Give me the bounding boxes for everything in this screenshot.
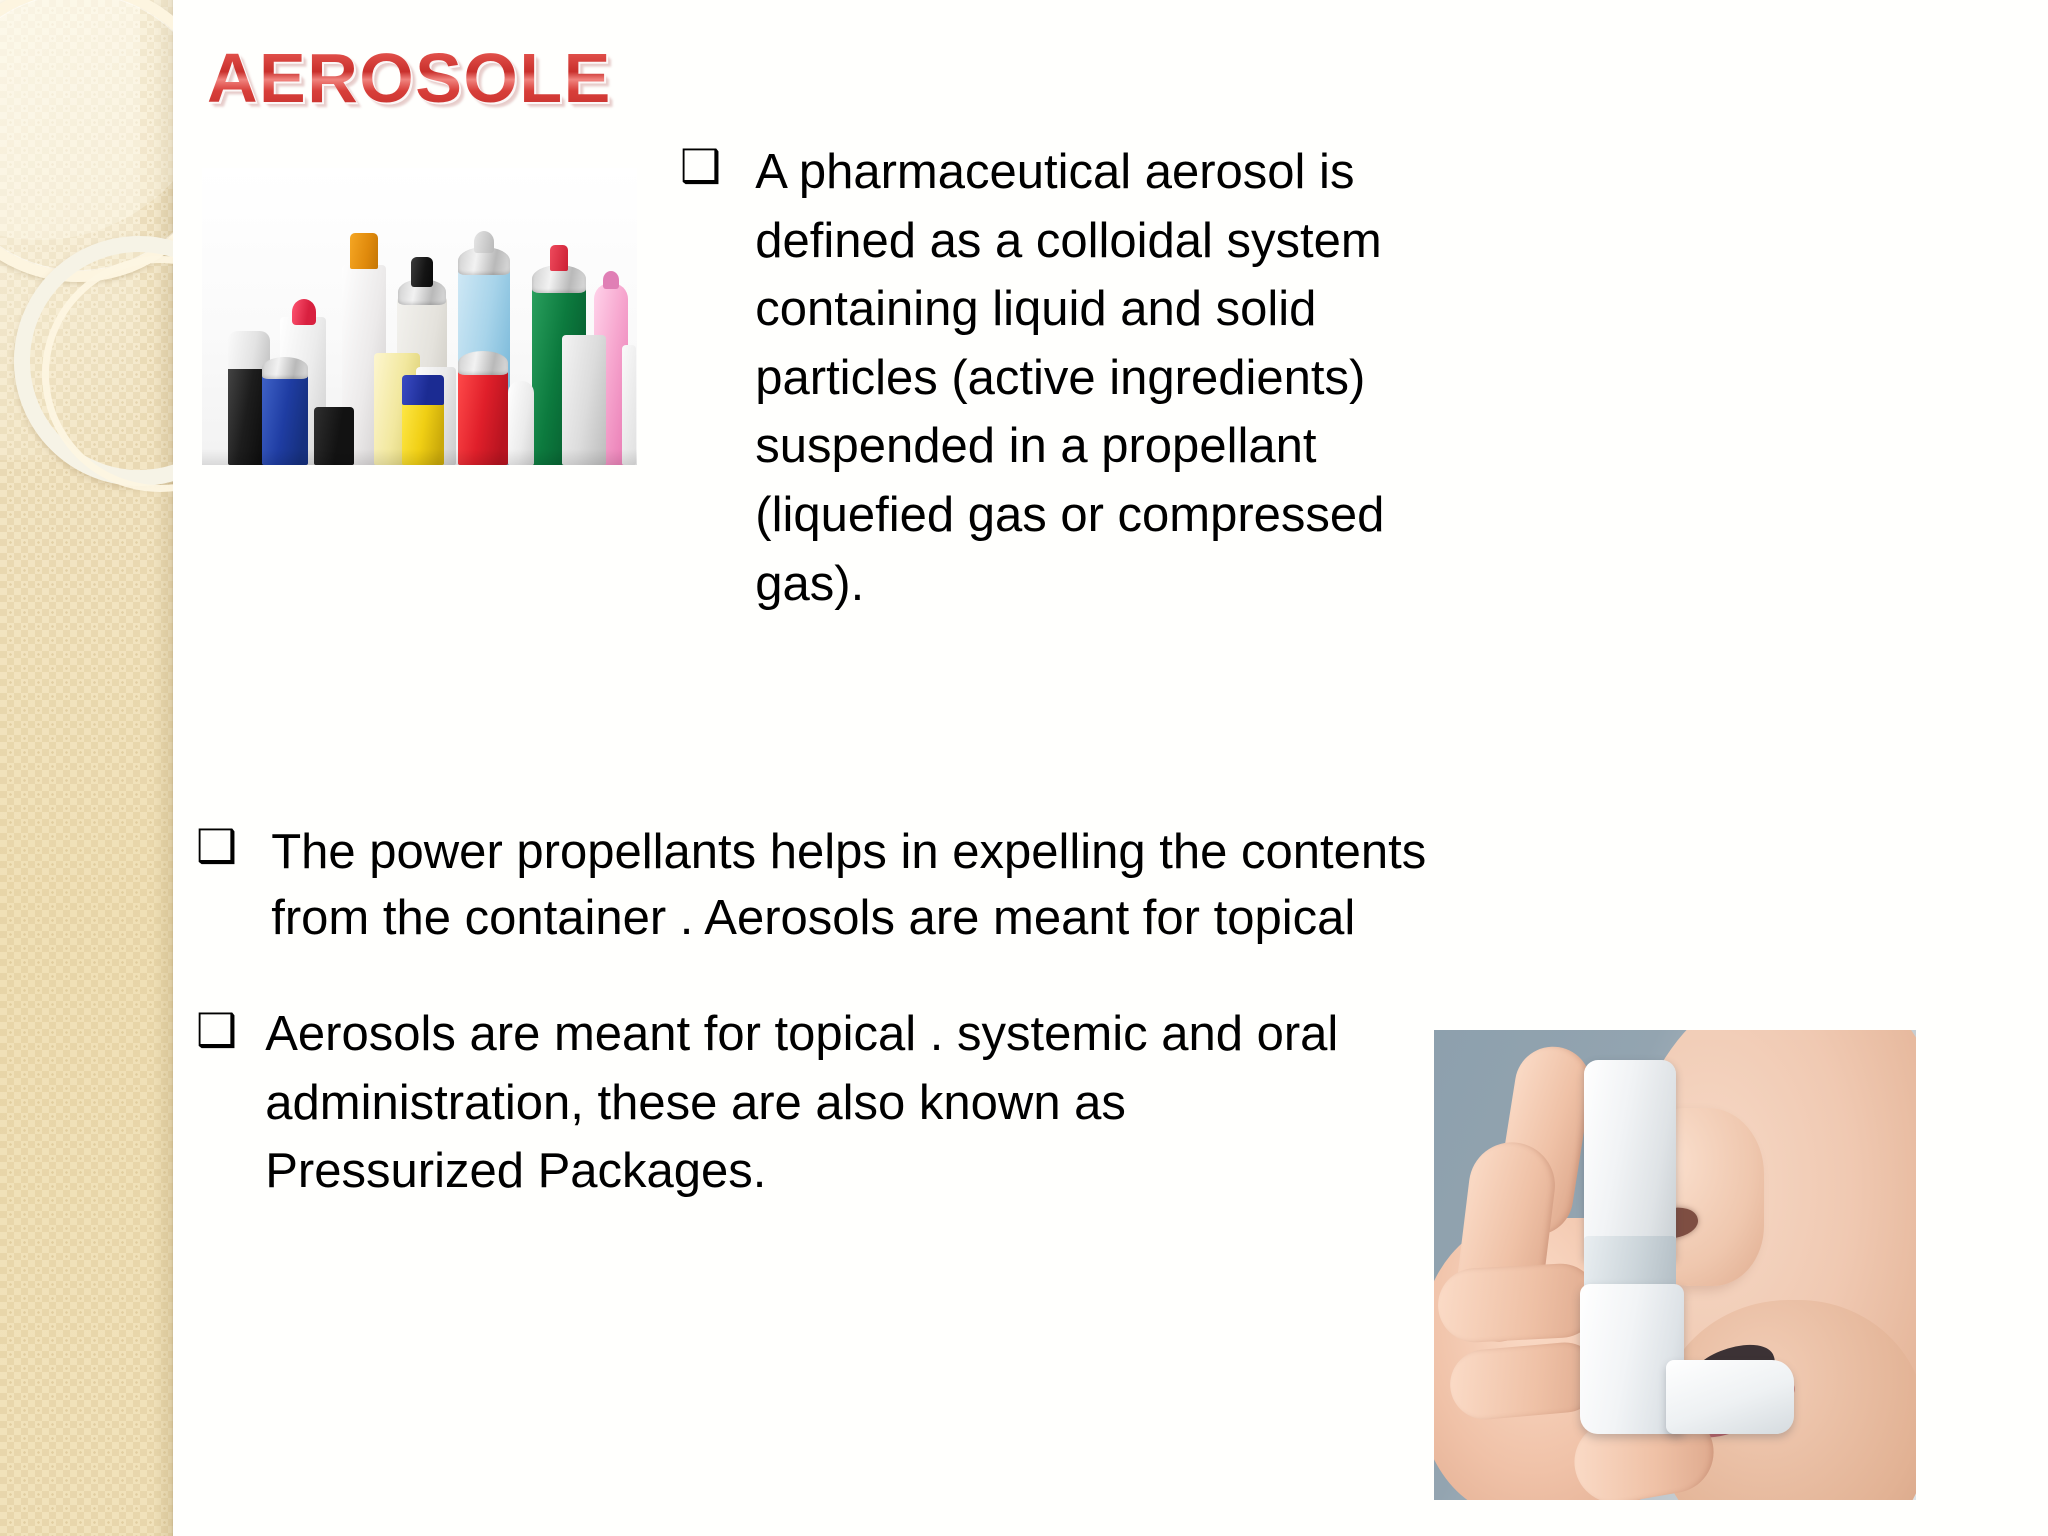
aerosol-cans-photo [202,168,637,465]
slide-title: AEROSOLE [207,38,612,118]
inhaler-mouthpiece [1666,1360,1794,1434]
bullet-marker-icon: ❑ [680,142,721,190]
inhaler-canister [1584,1060,1676,1260]
bullet-text-administration: Aerosols are meant for topical . systemi… [265,1000,1355,1206]
bullet-item-propellants: ❑ The power propellants helps in expelli… [196,820,1526,951]
bullet-item-administration: ❑ Aerosols are meant for topical . syste… [196,1000,1376,1206]
bullet-text-definition: A pharmaceutical aerosol is defined as a… [755,138,1495,618]
bullet-marker-icon: ❑ [196,822,237,870]
bullet-text-propellants: The power propellants helps in expelling… [271,820,1521,951]
slide-canvas: AEROSOLE [0,0,2048,1536]
cans-shadow [202,449,637,465]
decorative-left-border [0,0,173,1536]
inhaler-photo [1434,1030,1916,1500]
bullet-marker-icon: ❑ [196,1006,237,1054]
hand-finger [1436,1262,1600,1344]
bullet-item-definition: ❑ A pharmaceutical aerosol is defined as… [680,138,1510,618]
